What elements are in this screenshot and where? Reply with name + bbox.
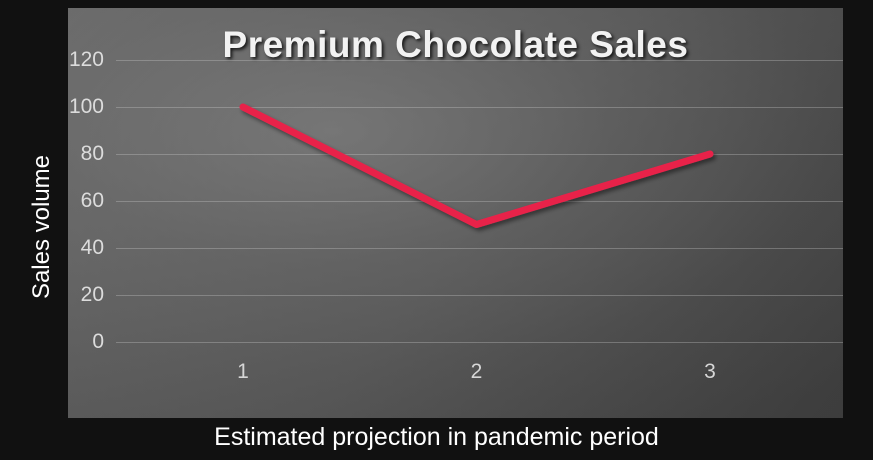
- plot-area: Premium Chocolate Sales 123: [68, 8, 843, 418]
- chart-canvas: Premium Chocolate Sales 123 020406080100…: [0, 0, 873, 460]
- gridline: [116, 342, 843, 343]
- gridline: [116, 154, 843, 155]
- y-tick-labels-group: 020406080100120: [0, 8, 116, 418]
- y-tick-label: 120: [44, 48, 104, 72]
- gridline: [116, 60, 843, 61]
- gridline: [116, 248, 843, 249]
- x-axis-title: Estimated projection in pandemic period: [0, 423, 873, 452]
- y-axis-title: Sales volume: [28, 107, 56, 347]
- x-tick-label: 1: [213, 360, 273, 384]
- gridline: [116, 107, 843, 108]
- x-tick-label: 3: [680, 360, 740, 384]
- gridline: [116, 295, 843, 296]
- x-tick-label: 2: [447, 360, 507, 384]
- gridline: [116, 201, 843, 202]
